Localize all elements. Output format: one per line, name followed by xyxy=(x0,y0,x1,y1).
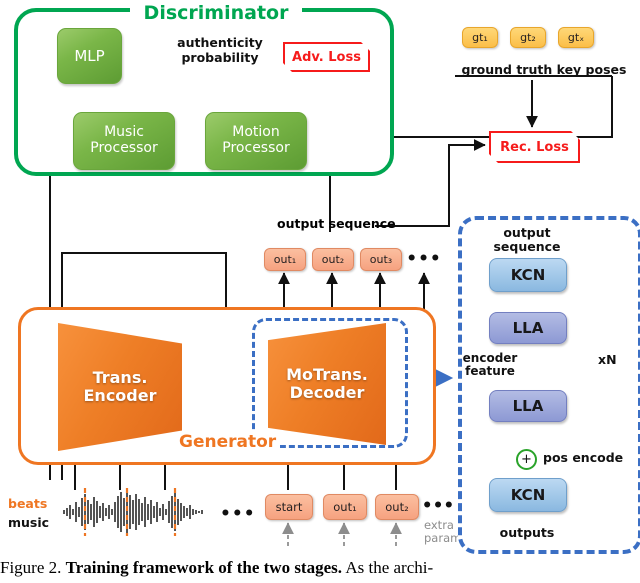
output-sequence-label: output sequence xyxy=(277,216,396,231)
caption-prefix: Figure 2. xyxy=(0,558,66,577)
music-waveform xyxy=(62,488,214,536)
motrans-decoder-label: MoTrans. Decoder xyxy=(286,366,368,401)
figure-caption: Figure 2. Training framework of the two … xyxy=(0,558,640,578)
adversarial-loss-box: Adv. Loss xyxy=(283,42,370,72)
kcn-bottom-block[interactable]: KCN xyxy=(489,478,567,512)
transformer-encoder-label: Trans. Encoder xyxy=(84,369,157,404)
mlp-block[interactable]: MLP xyxy=(57,28,122,84)
input-token-out-1: out₁ xyxy=(323,494,367,520)
lla-lower-block[interactable]: LLA xyxy=(489,390,567,422)
pos-encode-plus-icon: + xyxy=(516,449,537,470)
ground-truth-token-x: gtₓ xyxy=(558,27,594,48)
beats-label: beats xyxy=(8,496,47,511)
music-processor-block[interactable]: Music Processor xyxy=(73,112,175,170)
encoder-feature-label: encoder feature xyxy=(459,352,521,379)
pos-encode-label: pos encode xyxy=(543,451,623,466)
output-tokens-ellipsis: ••• xyxy=(410,248,438,269)
detail-outputs-label: outputs xyxy=(489,526,565,541)
authenticity-probability-label: authenticity probability xyxy=(168,36,272,65)
transformer-encoder-block[interactable]: Trans. Encoder xyxy=(58,323,182,451)
music-label: music xyxy=(8,515,49,530)
generator-title: Generator xyxy=(175,432,280,452)
output-token-2: out₂ xyxy=(312,248,354,271)
ground-truth-key-poses-label: ground truth key poses xyxy=(455,63,633,78)
motrans-decoder-block[interactable]: MoTrans. Decoder xyxy=(268,323,386,445)
output-token-3: out₃ xyxy=(360,248,402,271)
input-tokens-ellipsis: ••• xyxy=(424,494,452,518)
lla-upper-block[interactable]: LLA xyxy=(489,312,567,344)
waveform-ellipsis: ••• xyxy=(220,504,256,524)
ground-truth-token-2: gt₂ xyxy=(510,27,546,48)
reconstruction-loss-box: Rec. Loss xyxy=(489,131,580,163)
discriminator-title: Discriminator xyxy=(130,2,302,24)
input-token-out-2: out₂ xyxy=(375,494,419,520)
caption-bold: Training framework of the two stages. xyxy=(66,558,342,577)
output-token-1: out₁ xyxy=(264,248,306,271)
motion-processor-block[interactable]: Motion Processor xyxy=(205,112,307,170)
detail-output-sequence-label: output sequence xyxy=(478,226,576,254)
kcn-top-block[interactable]: KCN xyxy=(489,258,567,292)
repeat-count-label: xN xyxy=(598,353,617,368)
input-token-start: start xyxy=(265,494,313,520)
figure-training-framework: Discriminator MLP Music Processor Motion… xyxy=(0,0,640,583)
ground-truth-token-1: gt₁ xyxy=(462,27,498,48)
caption-suffix: As the archi- xyxy=(342,558,433,577)
